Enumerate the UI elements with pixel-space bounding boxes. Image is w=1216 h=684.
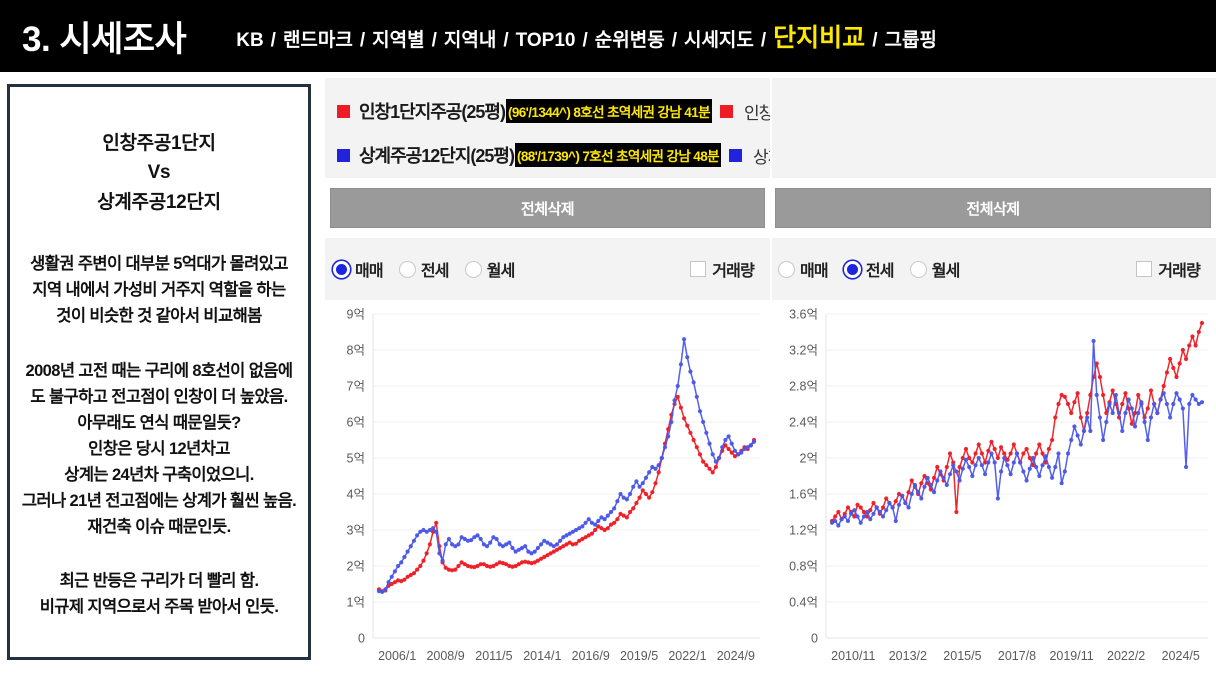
panel-jeonse: 전체삭제 매매전세월세 거래량 00.4억0.8억1.2억1.6억2억2.4억2… <box>770 78 1216 684</box>
series-point <box>989 440 993 444</box>
series-point <box>615 517 619 521</box>
series-point <box>929 483 933 487</box>
series-point <box>1123 391 1127 395</box>
series-point <box>1190 393 1194 397</box>
series-point <box>881 514 885 518</box>
series-point <box>910 492 914 496</box>
series-point <box>421 559 425 563</box>
app-header: 3. 시세조사 KB/랜드마크/지역별/지역내/TOP10/순위변동/시세지도/… <box>0 0 1216 72</box>
series-point <box>967 465 971 469</box>
checkbox-icon-left[interactable] <box>690 261 706 277</box>
series-point <box>1002 456 1006 460</box>
series-point <box>685 424 689 428</box>
series-point <box>957 478 961 482</box>
note-paragraph-2: 2008년 고전 때는 구리에 8호선이 없음에도 불구하고 전고점이 인창이 … <box>18 358 300 540</box>
series-point <box>723 438 727 442</box>
delete-all-button-right[interactable]: 전체삭제 <box>775 188 1211 228</box>
series-point <box>469 538 473 542</box>
y-tick-label: 0 <box>358 632 365 646</box>
series-point <box>906 505 910 509</box>
series-point <box>1085 415 1089 419</box>
y-tick-label: 2억 <box>800 452 818 466</box>
series-point <box>641 481 645 485</box>
series-point <box>393 569 397 573</box>
series-point <box>720 445 724 449</box>
chart-maemae-svg[interactable]: 01억2억3억4억5억6억7억8억9억2006/12008/92011/5201… <box>325 300 770 684</box>
series-point <box>1136 393 1140 397</box>
series-point <box>682 337 686 341</box>
x-tick-label: 2013/2 <box>889 649 927 663</box>
series-point <box>1168 415 1172 419</box>
series-point <box>688 431 692 435</box>
series-point <box>859 505 863 509</box>
series-point <box>1040 463 1044 467</box>
y-tick-label: 0 <box>811 632 818 646</box>
series-point <box>989 451 993 455</box>
series-point <box>1076 391 1080 395</box>
note-line: 재건축 이슈 때문인듯. <box>18 514 300 540</box>
series-point <box>1066 451 1070 455</box>
trade-type-radiogroup-right: 매매전세월세 <box>778 257 976 281</box>
series-point <box>631 485 635 489</box>
y-tick-label: 0.8억 <box>789 560 818 574</box>
series-point <box>609 510 613 514</box>
series-point <box>935 478 939 482</box>
breadcrumb-nav: KB/랜드마크/지역별/지역내/TOP10/순위변동/시세지도/단지비교/그룹핑 <box>236 18 937 54</box>
series-point <box>1069 438 1073 442</box>
series-point <box>961 467 965 471</box>
series-point <box>679 362 683 366</box>
note-paragraph-3: 최근 반등은 구리가 더 빨리 함.비규제 지역으로서 주목 받아서 인듯. <box>18 568 300 620</box>
series-point <box>1015 451 1019 455</box>
y-tick-label: 1억 <box>347 596 365 610</box>
nav-item-6[interactable]: 시세지도 <box>684 25 754 52</box>
series-point <box>412 539 416 543</box>
note-line: 그러나 21년 전고점에는 상계가 훨씬 높음. <box>18 488 300 514</box>
series-point <box>1104 420 1108 424</box>
x-tick-label: 2017/8 <box>998 649 1036 663</box>
series-point <box>846 519 850 523</box>
series-point <box>533 550 537 554</box>
nav-item-4[interactable]: TOP10 <box>516 30 576 52</box>
series-point <box>707 442 711 446</box>
series-point <box>507 541 511 545</box>
series-point <box>1162 384 1166 388</box>
series-point <box>1056 402 1060 406</box>
series-point <box>942 476 946 480</box>
x-tick-label: 2010/11 <box>831 649 875 663</box>
radio-icon-매매[interactable] <box>333 261 350 278</box>
series-point <box>1107 402 1111 406</box>
series-point <box>647 470 651 474</box>
series-point <box>1158 397 1162 401</box>
note-line: 아무래도 연식 때문일듯? <box>18 410 300 436</box>
series-point <box>717 456 721 460</box>
series-point <box>1111 411 1115 415</box>
series-point <box>1120 402 1124 406</box>
series-point <box>1152 402 1156 406</box>
series-point <box>894 519 898 523</box>
series-point <box>833 514 837 518</box>
radio-option-전세[interactable]: 전세 <box>844 257 894 281</box>
page-title: 3. 시세조사 <box>22 11 186 62</box>
series-point <box>730 442 734 446</box>
y-tick-label: 3억 <box>347 524 365 538</box>
series-point <box>657 470 661 474</box>
series-point <box>676 384 680 388</box>
series-point <box>973 451 977 455</box>
series-point <box>945 465 949 469</box>
series-point <box>986 449 990 453</box>
series-point <box>833 519 837 523</box>
series-point <box>922 485 926 489</box>
series-point <box>739 451 743 455</box>
note-line: 지역 내에서 가성비 거주지 역할을 하는 <box>18 277 300 303</box>
series-point <box>714 460 718 464</box>
series-point <box>628 510 632 514</box>
series-point <box>447 537 451 541</box>
series-point <box>523 544 527 548</box>
series-point <box>859 521 863 525</box>
series-point <box>1142 420 1146 424</box>
series-point <box>1187 343 1191 347</box>
series-point <box>479 537 483 541</box>
series-point <box>1194 343 1198 347</box>
delete-all-button-left[interactable]: 전체삭제 <box>330 188 765 228</box>
note-line: 상계는 24년차 구축이었으니. <box>18 462 300 488</box>
series-point <box>1088 429 1092 433</box>
series-point <box>1072 424 1076 428</box>
series-point <box>475 533 479 537</box>
series-point <box>1079 442 1083 446</box>
legend-label-red: 인창1단지주공(25평) <box>359 98 505 124</box>
x-tick-label: 2019/5 <box>620 649 658 663</box>
series-point <box>647 496 651 500</box>
series-point <box>1146 438 1150 442</box>
series-point <box>644 492 648 496</box>
series-point <box>1091 339 1095 343</box>
series-point <box>970 474 974 478</box>
series-point <box>1034 465 1038 469</box>
nav-item-7[interactable]: 단지비교 <box>773 18 865 54</box>
series-point <box>894 499 898 503</box>
series-point <box>1056 451 1060 455</box>
legend-label-blue: 상계주공12단지(25평) <box>359 142 514 168</box>
series-point <box>406 550 410 554</box>
nav-item-0[interactable]: KB <box>236 30 263 52</box>
series-point <box>1197 330 1201 334</box>
series-point <box>434 530 438 534</box>
series-point <box>698 409 702 413</box>
radio-option-전세[interactable]: 전세 <box>399 257 449 281</box>
series-point <box>412 571 416 575</box>
series-point <box>993 460 997 464</box>
series-point <box>1069 411 1073 415</box>
x-tick-label: 2011/5 <box>475 649 512 663</box>
series-point <box>415 568 419 572</box>
series-point <box>916 490 920 494</box>
radio-label-전세: 전세 <box>866 257 894 281</box>
x-tick-label: 2008/9 <box>426 649 464 663</box>
series-point <box>1149 415 1153 419</box>
series-point <box>980 451 984 455</box>
series-point <box>593 523 597 527</box>
series-point <box>580 524 584 528</box>
series-point <box>431 526 435 530</box>
series-point <box>415 533 419 537</box>
series-point <box>625 515 629 519</box>
series-point <box>1012 442 1016 446</box>
series-point <box>402 578 406 582</box>
series-point <box>587 517 591 521</box>
y-tick-label: 2억 <box>347 560 365 574</box>
series-point <box>1178 397 1182 401</box>
series-point <box>726 434 730 438</box>
series-point <box>1082 429 1086 433</box>
plot-background <box>373 314 760 638</box>
radio-icon-월세[interactable] <box>910 261 927 278</box>
series-point <box>399 560 403 564</box>
legend-area-right <box>770 78 1216 178</box>
series-point <box>402 555 406 559</box>
volume-checkbox-right[interactable]: 거래량 <box>1136 257 1200 281</box>
series-point <box>1024 478 1028 482</box>
series-point <box>593 528 597 532</box>
series-point <box>1123 411 1127 415</box>
nav-item-3[interactable]: 지역내 <box>444 25 496 52</box>
series-point <box>1101 438 1105 442</box>
series-point <box>919 481 923 485</box>
note-line: 생활권 주변이 대부분 5억대가 몰려있고 <box>18 251 300 277</box>
series-point <box>733 449 737 453</box>
series-point <box>698 452 702 456</box>
series-point <box>935 465 939 469</box>
series-point <box>634 479 638 483</box>
series-point <box>948 472 952 476</box>
radio-icon-전세[interactable] <box>844 261 861 278</box>
series-point <box>986 460 990 464</box>
controls-left: 매매전세월세 거래량 <box>325 238 770 300</box>
series-point <box>383 587 387 591</box>
series-point <box>999 469 1003 473</box>
nav-separator: / <box>872 30 877 52</box>
series-point <box>409 544 413 548</box>
y-tick-label: 8억 <box>347 344 365 358</box>
nav-separator: / <box>582 30 587 52</box>
series-point <box>1040 451 1044 455</box>
legend-chip-swatch-red-icon <box>720 105 733 118</box>
note-line: 최근 반등은 구리가 더 빨리 함. <box>18 568 300 594</box>
series-point <box>1018 460 1022 464</box>
radio-label-월세: 월세 <box>932 257 960 281</box>
series-point <box>878 510 882 514</box>
series-point <box>1155 411 1159 415</box>
x-tick-label: 2022/1 <box>668 649 706 663</box>
plot-background <box>826 314 1208 638</box>
series-point <box>1184 357 1188 361</box>
series-point <box>574 542 578 546</box>
series-point <box>695 395 699 399</box>
radio-option-월세[interactable]: 월세 <box>910 257 960 281</box>
comparison-heading: 인창주공1단지 Vs 상계주공12단지 <box>18 129 300 217</box>
series-point <box>1076 433 1080 437</box>
series-point <box>884 508 888 512</box>
series-point <box>1130 422 1134 426</box>
series-point <box>704 463 708 467</box>
y-tick-label: 1.6억 <box>789 488 818 502</box>
series-point <box>1111 388 1115 392</box>
series-point <box>910 478 914 482</box>
y-tick-label: 2.8억 <box>789 380 818 394</box>
nav-item-2[interactable]: 지역별 <box>372 25 424 52</box>
series-point <box>641 488 645 492</box>
y-tick-label: 6억 <box>347 416 365 430</box>
series-point <box>453 568 457 572</box>
series-point <box>390 575 394 579</box>
series-point <box>849 512 853 516</box>
series-point <box>688 370 692 374</box>
series-point <box>628 492 632 496</box>
series-point <box>488 541 492 545</box>
series-point <box>682 416 686 420</box>
series-point <box>1002 451 1006 455</box>
legend-swatch-red-icon <box>337 105 350 118</box>
series-point <box>1194 397 1198 401</box>
series-point <box>692 438 696 442</box>
volume-checkbox-left[interactable]: 거래량 <box>690 257 754 281</box>
series-point <box>999 445 1003 449</box>
y-tick-label: 9억 <box>347 308 365 322</box>
series-point <box>881 505 885 509</box>
x-tick-label: 2016/9 <box>572 649 610 663</box>
x-tick-label: 2014/1 <box>523 649 561 663</box>
series-point <box>1162 391 1166 395</box>
series-point <box>418 564 422 568</box>
nav-separator: / <box>503 30 508 52</box>
chart-jeonse-svg[interactable]: 00.4억0.8억1.2억1.6억2억2.4억2.8억3.2억3.6억2010/… <box>770 300 1216 684</box>
radio-icon-전세[interactable] <box>399 261 416 278</box>
series-point <box>945 483 949 487</box>
legend-row-blue: 상계주공12단지(25평) (88'/1739^) 7호선 초역세권 강남 48… <box>325 133 770 177</box>
series-point <box>1005 463 1009 467</box>
radio-label-매매: 매매 <box>800 257 828 281</box>
series-point <box>977 442 981 446</box>
series-point <box>1060 481 1064 485</box>
radio-icon-월세[interactable] <box>465 261 482 278</box>
nav-item-8[interactable]: 그룹핑 <box>884 25 936 52</box>
series-point <box>973 463 977 467</box>
series-point <box>440 559 444 563</box>
series-point <box>887 501 891 505</box>
series-point <box>1171 366 1175 370</box>
series-point <box>1200 321 1204 325</box>
radio-option-매매[interactable]: 매매 <box>778 257 828 281</box>
series-point <box>726 447 730 451</box>
series-point <box>868 517 872 521</box>
series-point <box>660 456 664 460</box>
series-point <box>1171 402 1175 406</box>
checkbox-icon-right[interactable] <box>1136 261 1152 277</box>
series-point <box>970 460 974 464</box>
radio-icon-매매[interactable] <box>778 261 795 278</box>
chart-maemae[interactable]: 01억2억3억4억5억6억7억8억9억2006/12008/92011/5201… <box>325 300 770 684</box>
nav-item-1[interactable]: 랜드마크 <box>283 25 353 52</box>
series-point <box>913 483 917 487</box>
series-point <box>1190 334 1194 338</box>
series-point <box>1063 395 1067 399</box>
series-point <box>1181 348 1185 352</box>
series-point <box>672 398 676 402</box>
radio-label-매매: 매매 <box>355 257 383 281</box>
series-point <box>711 470 715 474</box>
series-point <box>1127 397 1131 401</box>
nav-item-5[interactable]: 순위변동 <box>595 25 665 52</box>
series-point <box>1114 393 1118 397</box>
series-point <box>1047 465 1051 469</box>
volume-label-left: 거래량 <box>712 257 754 281</box>
series-point <box>615 499 619 503</box>
series-point <box>871 512 875 516</box>
nav-separator: / <box>360 30 365 52</box>
series-point <box>653 467 657 471</box>
series-point <box>456 542 460 546</box>
series-point <box>983 472 987 476</box>
x-tick-label: 2024/9 <box>717 649 755 663</box>
y-tick-label: 7억 <box>347 380 365 394</box>
x-tick-label: 2006/1 <box>378 649 416 663</box>
series-point <box>1050 438 1054 442</box>
y-tick-label: 1.2억 <box>789 524 818 538</box>
nav-separator: / <box>432 30 437 52</box>
chart-jeonse[interactable]: 00.4억0.8억1.2억1.6억2억2.4억2.8억3.2억3.6억2010/… <box>770 300 1216 684</box>
series-point <box>1066 402 1070 406</box>
series-point <box>752 440 756 444</box>
panel-maemae: 인창1단지주공(25평) (96'/1344^) 8호선 초역세권 강남 41분… <box>325 78 770 684</box>
y-tick-label: 5억 <box>347 452 365 466</box>
series-point <box>612 506 616 510</box>
radio-option-월세[interactable]: 월세 <box>465 257 515 281</box>
series-point <box>631 506 635 510</box>
y-tick-label: 2.4억 <box>789 416 818 430</box>
series-point <box>855 503 859 507</box>
volume-label-right: 거래량 <box>1158 257 1200 281</box>
series-point <box>711 452 715 456</box>
series-point <box>897 503 901 507</box>
series-point <box>386 580 390 584</box>
note-line: 인창은 당시 12년차고 <box>18 436 300 462</box>
series-point <box>948 451 952 455</box>
series-point <box>603 517 607 521</box>
y-tick-label: 3.2억 <box>789 344 818 358</box>
radio-option-매매[interactable]: 매매 <box>333 257 383 281</box>
series-point <box>663 445 667 449</box>
series-point <box>1149 388 1153 392</box>
nav-separator: / <box>761 30 766 52</box>
note-line: 것이 비슷한 것 같아서 비교해봄 <box>18 303 300 329</box>
series-point <box>653 481 657 485</box>
series-point <box>1009 451 1013 455</box>
series-point <box>657 463 661 467</box>
series-point <box>977 456 981 460</box>
series-point <box>701 420 705 424</box>
series-point <box>612 521 616 525</box>
series-point <box>1133 424 1137 428</box>
series-point <box>625 497 629 501</box>
series-point <box>1130 406 1134 410</box>
series-point <box>1028 467 1032 471</box>
series-point <box>964 458 968 462</box>
series-point <box>536 546 540 550</box>
